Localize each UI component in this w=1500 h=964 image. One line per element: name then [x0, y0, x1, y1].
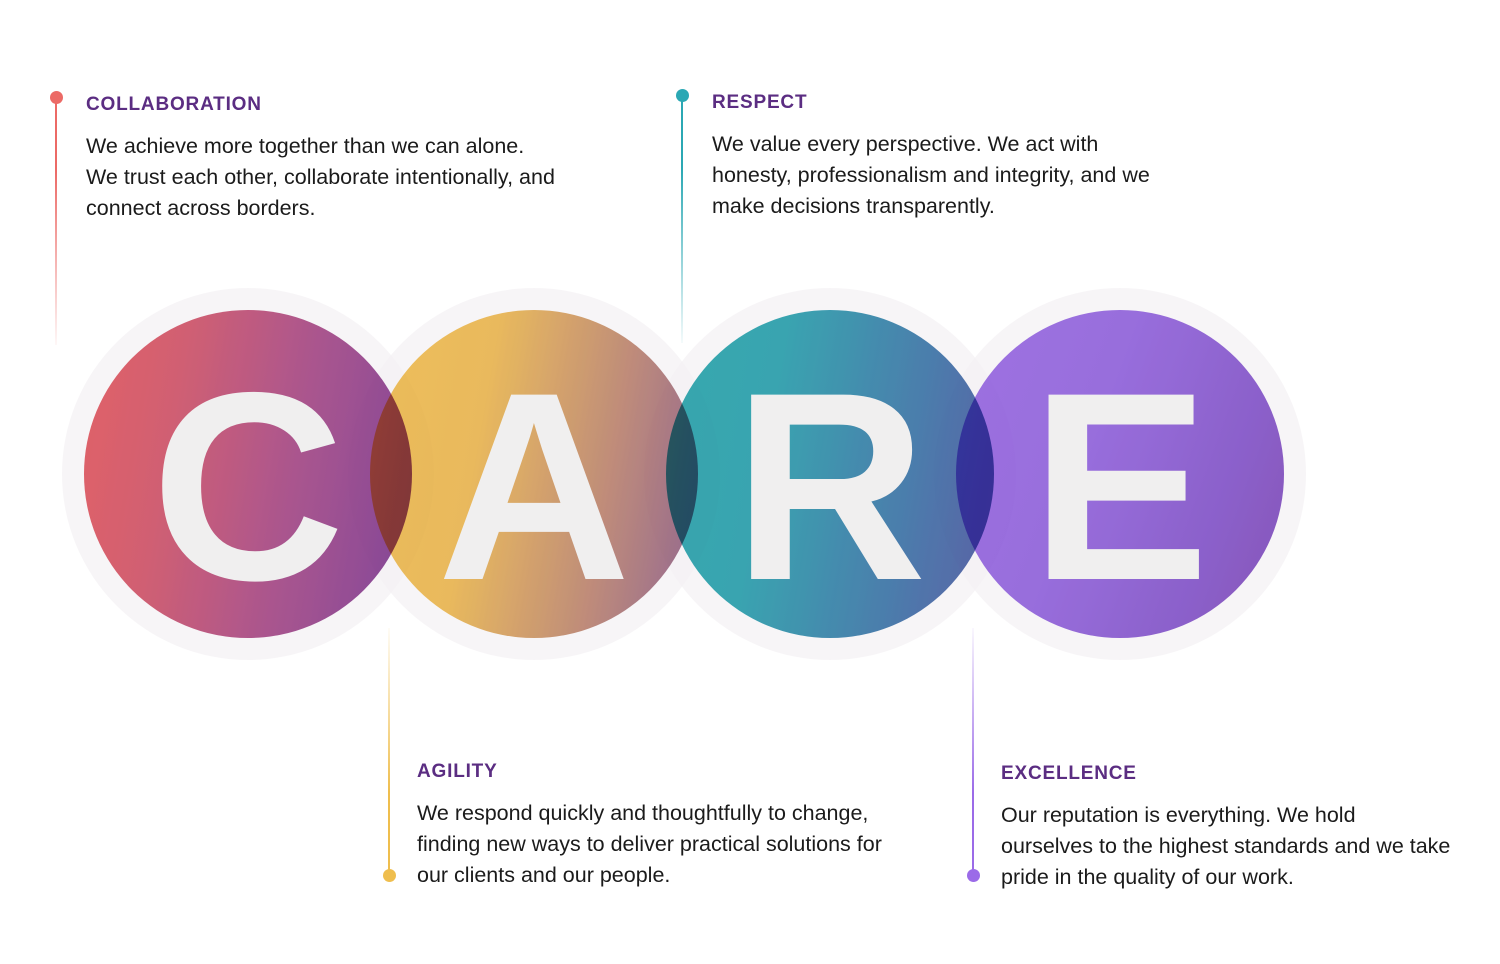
circle-c [84, 310, 412, 638]
value-body-agility: We respond quickly and thoughtfully to c… [417, 798, 897, 891]
halo-r [644, 288, 1016, 660]
value-block-agility: Agility We respond quickly and thoughtfu… [417, 755, 897, 891]
connector-line-collaboration [55, 95, 57, 345]
circle-a [370, 310, 698, 638]
value-body-collaboration: We achieve more together than we can alo… [86, 131, 556, 224]
connector-line-agility [388, 628, 390, 878]
letter-e: E [956, 352, 1284, 620]
value-title-agility: Agility [417, 755, 897, 782]
value-block-respect: Respect We value every perspective. We a… [712, 86, 1162, 222]
value-block-collaboration: Collaboration We achieve more together t… [86, 88, 556, 224]
halo-a [348, 288, 720, 660]
value-body-respect: We value every perspective. We act with … [712, 129, 1162, 222]
value-title-collaboration: Collaboration [86, 88, 556, 115]
value-title-respect: Respect [712, 86, 1162, 113]
connector-dot-collaboration [50, 91, 63, 104]
letter-c: C [84, 352, 412, 620]
care-values-infographic: C A R E Collaboration We achieve more to… [0, 0, 1500, 964]
circle-e [956, 310, 1284, 638]
halo-c [62, 288, 434, 660]
connector-dot-agility [383, 869, 396, 882]
value-block-excellence: Excellence Our reputation is everything.… [1001, 757, 1451, 893]
circle-r [666, 310, 994, 638]
value-body-excellence: Our reputation is everything. We hold ou… [1001, 800, 1451, 893]
letter-r: R [666, 352, 994, 620]
connector-dot-excellence [967, 869, 980, 882]
letter-a: A [370, 352, 698, 620]
connector-line-respect [681, 93, 683, 343]
connector-dot-respect [676, 89, 689, 102]
connector-line-excellence [972, 628, 974, 878]
value-title-excellence: Excellence [1001, 757, 1451, 784]
halo-e [934, 288, 1306, 660]
